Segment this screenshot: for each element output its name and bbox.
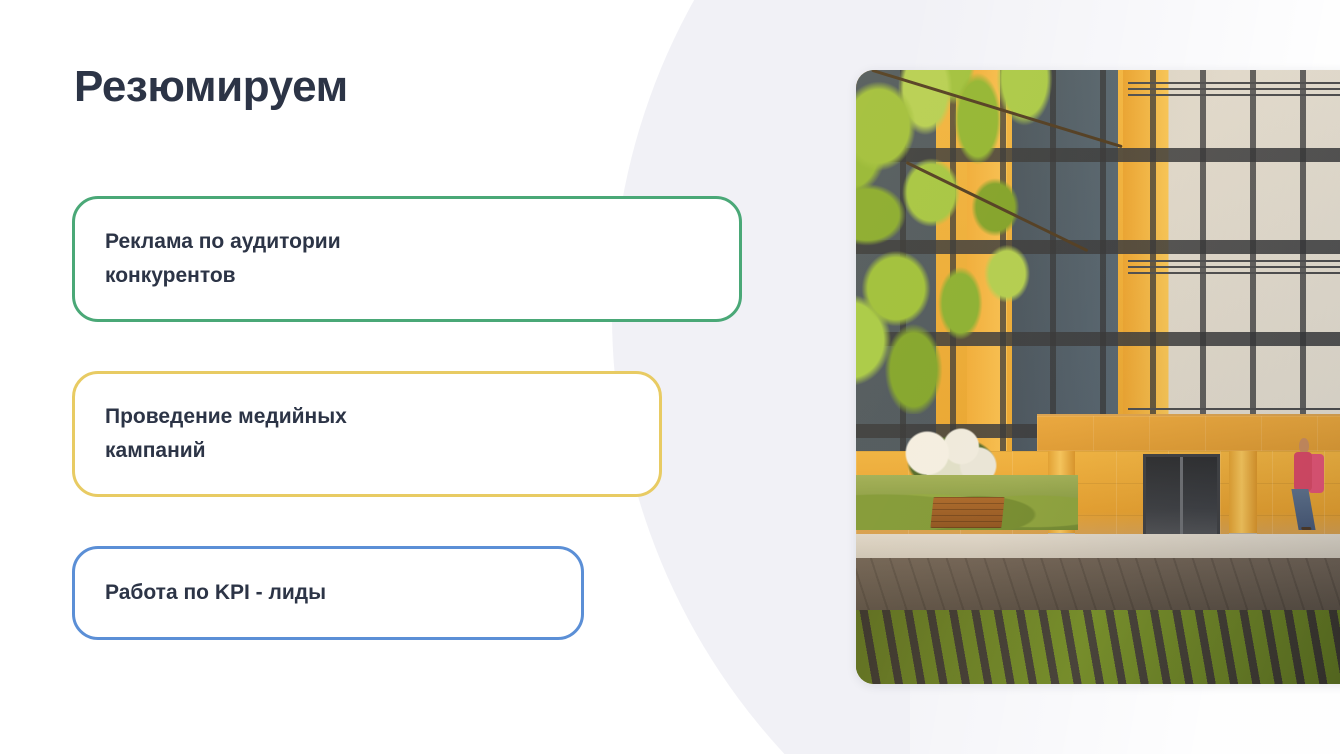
courier-torso: [1294, 452, 1312, 491]
grass-pavers-shadow: [856, 610, 1340, 684]
courier-legs: [1291, 489, 1315, 530]
summary-card-kpi-leads[interactable]: Работа по KPI - лиды: [72, 546, 584, 640]
tree-foliage: [856, 70, 1118, 414]
page-title: Резюмируем: [74, 62, 348, 112]
summary-card-label: Реклама по аудитории конкурентов: [75, 225, 341, 293]
park-bench: [930, 497, 1004, 528]
summary-card-competitor-audience-ads[interactable]: Реклама по аудитории конкурентов: [72, 196, 742, 322]
courier-figure: [1284, 438, 1324, 536]
balcony-railing: [1128, 260, 1340, 278]
summary-card-media-campaigns[interactable]: Проведение медийных кампаний: [72, 371, 662, 497]
residential-building-photo: [856, 70, 1340, 684]
balcony-railing: [1128, 82, 1340, 100]
photo-inner: [856, 70, 1340, 684]
slide: Резюмируем Реклама по аудитории конкурен…: [0, 0, 1340, 754]
building-entrance-door: [1143, 454, 1220, 546]
summary-card-label: Проведение медийных кампаний: [75, 400, 347, 468]
summary-card-label: Работа по KPI - лиды: [75, 576, 326, 610]
courier-shoe: [1301, 528, 1311, 531]
